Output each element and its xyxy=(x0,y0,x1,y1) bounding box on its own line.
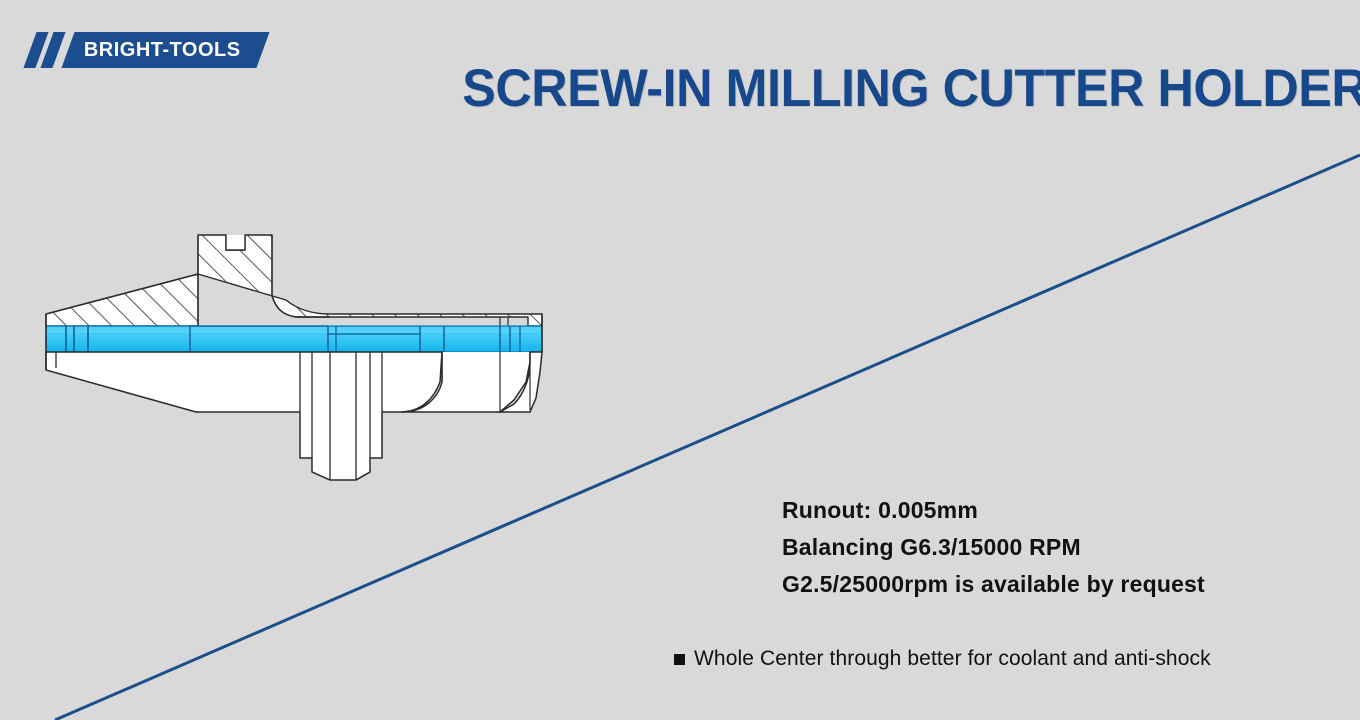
feature-bullet-row: Whole Center through better for coolant … xyxy=(674,647,1211,671)
coolant-bore-channel xyxy=(46,326,542,352)
specification-list: Runout: 0.005mm Balancing G6.3/15000 RPM… xyxy=(782,492,1322,603)
spec-line-optional-balancing: G2.5/25000rpm is available by request xyxy=(782,566,1322,603)
brand-name: BRIGHT-TOOLS xyxy=(84,39,241,62)
spec-line-balancing: Balancing G6.3/15000 RPM xyxy=(782,529,1322,566)
slide-canvas: BRIGHT-TOOLS SCREW-IN MILLING CUTTER HOL… xyxy=(0,0,1360,720)
feature-text: Whole Center through better for coolant … xyxy=(694,647,1211,671)
page-title: SCREW-IN MILLING CUTTER HOLDER xyxy=(462,62,1308,115)
product-illustration xyxy=(30,222,560,492)
outer-profile-lower-half xyxy=(46,352,542,480)
square-bullet-icon xyxy=(674,654,685,665)
brand-logo: BRIGHT-TOOLS xyxy=(30,32,263,68)
section-hatched-body xyxy=(46,235,542,326)
logo-badge: BRIGHT-TOOLS xyxy=(61,32,269,68)
spec-line-runout: Runout: 0.005mm xyxy=(782,492,1322,529)
tool-holder-cross-section xyxy=(30,222,560,492)
